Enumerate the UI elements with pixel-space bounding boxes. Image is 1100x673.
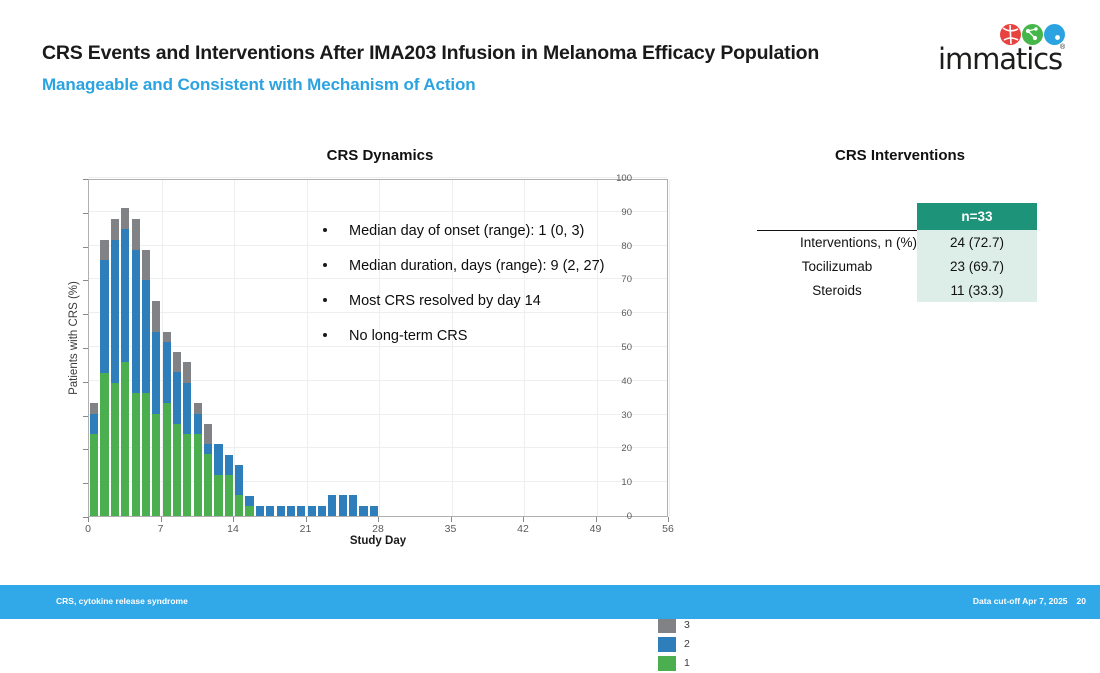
x-tick-mark <box>233 517 234 522</box>
x-tick-mark <box>161 517 162 522</box>
bar-segment-grade-3 <box>142 250 150 281</box>
bar-segment-grade-2 <box>328 495 336 516</box>
logo-wordmark: immatics <box>938 42 1062 76</box>
y-axis-title: Patients with CRS (%) <box>68 188 80 488</box>
bar-segment-grade-1 <box>204 454 212 516</box>
bar-stack <box>359 506 367 516</box>
bar-segment-grade-2 <box>287 506 295 516</box>
y-tick-mark <box>83 247 88 248</box>
interventions-table: n=33 Interventions, n (%)24 (72.7)Tocili… <box>757 203 1037 302</box>
y-tick-label: 30 <box>598 410 632 421</box>
legend-swatch-icon <box>658 637 676 652</box>
bar-stack <box>349 495 357 516</box>
bar-stack <box>308 506 316 516</box>
bar-segment-grade-1 <box>100 373 108 516</box>
bar-stack <box>328 495 336 516</box>
bar-segment-grade-1 <box>111 383 119 516</box>
x-tick-label: 28 <box>363 523 393 535</box>
bar-segment-grade-2 <box>225 455 233 476</box>
bar-segment-grade-2 <box>266 506 274 516</box>
bar-segment-grade-1 <box>142 393 150 516</box>
x-tick-label: 14 <box>218 523 248 535</box>
x-tick-mark <box>451 517 452 522</box>
x-tick-label: 7 <box>146 523 176 535</box>
bar-segment-grade-2 <box>214 444 222 475</box>
bullet-item: No long-term CRS <box>313 327 663 345</box>
bar-segment-grade-3 <box>194 403 202 413</box>
bar-stack <box>111 219 119 516</box>
bar-stack <box>266 506 274 516</box>
bar-stack <box>121 208 129 516</box>
bar-segment-grade-1 <box>214 475 222 516</box>
slide-footer: CRS, cytokine release syndrome Data cut-… <box>0 585 1100 619</box>
table-row: Steroids11 (33.3) <box>757 278 1037 302</box>
table-row-label: Tocilizumab <box>757 254 917 278</box>
bar-segment-grade-3 <box>183 362 191 383</box>
gridline-horizontal <box>89 211 667 212</box>
table-header-blank <box>757 203 917 230</box>
bar-segment-grade-1 <box>173 424 181 516</box>
bar-stack <box>194 403 202 516</box>
y-tick-mark <box>83 280 88 281</box>
bar-segment-grade-3 <box>173 352 181 373</box>
chart-panel-title: CRS Dynamics <box>290 147 470 164</box>
bar-stack <box>256 506 264 516</box>
bar-segment-grade-2 <box>90 414 98 435</box>
bar-segment-grade-1 <box>183 434 191 516</box>
bullet-item: Most CRS resolved by day 14 <box>313 292 663 310</box>
bar-segment-grade-2 <box>132 250 140 393</box>
slide-header: CRS Events and Interventions After IMA20… <box>0 0 1100 110</box>
x-tick-label: 35 <box>436 523 466 535</box>
table-row-value: 24 (72.7) <box>917 230 1037 254</box>
table-panel-title: CRS Interventions <box>790 147 1010 164</box>
y-tick-mark <box>83 179 88 180</box>
bar-stack <box>132 219 140 516</box>
y-tick-label: 100 <box>598 173 632 184</box>
gridline-vertical <box>669 180 670 516</box>
legend-label: 2 <box>684 638 690 650</box>
bar-stack <box>100 240 108 516</box>
x-tick-mark <box>668 517 669 522</box>
data-cutoff-text: Data cut-off Apr 7, 2025 <box>973 596 1068 606</box>
bar-segment-grade-3 <box>111 219 119 240</box>
y-tick-label: 10 <box>598 477 632 488</box>
table-header-n: n=33 <box>917 203 1037 230</box>
bar-segment-grade-2 <box>100 260 108 373</box>
legend-rows: 321 <box>658 616 714 672</box>
bar-segment-grade-2 <box>183 383 191 434</box>
bar-segment-grade-2 <box>318 506 326 516</box>
bar-stack <box>173 352 181 516</box>
y-tick-label: 0 <box>598 511 632 522</box>
footer-abbreviation-note: CRS, cytokine release syndrome <box>56 596 188 606</box>
x-tick-mark <box>88 517 89 522</box>
bar-segment-grade-2 <box>173 372 181 423</box>
bar-stack <box>277 506 285 516</box>
immatics-logo: immatics ® <box>938 24 1068 72</box>
bar-segment-grade-2 <box>349 495 357 516</box>
bar-segment-grade-2 <box>359 506 367 516</box>
table-body: Interventions, n (%)24 (72.7)Tocilizumab… <box>757 230 1037 302</box>
bullet-text: Median duration, days (range): 9 (2, 27) <box>349 258 605 274</box>
y-tick-mark <box>83 449 88 450</box>
x-tick-mark <box>596 517 597 522</box>
bar-segment-grade-2 <box>194 414 202 435</box>
bar-stack <box>142 250 150 516</box>
bar-segment-grade-1 <box>235 495 243 516</box>
page-number: 20 <box>1077 596 1086 606</box>
y-tick-mark <box>83 416 88 417</box>
y-tick-mark <box>83 348 88 349</box>
bar-stack <box>90 403 98 516</box>
bar-segment-grade-3 <box>90 403 98 413</box>
y-tick-label: 90 <box>598 207 632 218</box>
y-tick-mark <box>83 382 88 383</box>
x-tick-mark <box>378 517 379 522</box>
bar-segment-grade-3 <box>163 332 171 342</box>
bullet-dot-icon <box>323 333 327 337</box>
bar-segment-grade-3 <box>204 424 212 445</box>
bar-segment-grade-2 <box>297 506 305 516</box>
legend-swatch-icon <box>658 656 676 671</box>
y-tick-mark <box>83 483 88 484</box>
x-tick-mark <box>306 517 307 522</box>
bullet-text: No long-term CRS <box>349 328 467 344</box>
bar-segment-grade-3 <box>100 240 108 261</box>
bar-stack <box>245 496 253 516</box>
bar-segment-grade-1 <box>225 475 233 516</box>
bar-segment-grade-2 <box>204 444 212 454</box>
bar-stack <box>152 301 160 516</box>
page-subtitle: Manageable and Consistent with Mechanism… <box>42 75 476 95</box>
x-axis-title: Study Day <box>88 535 668 547</box>
page-title: CRS Events and Interventions After IMA20… <box>42 42 819 65</box>
chart-callout-bullets: Median day of onset (range): 1 (0, 3)Med… <box>313 222 663 362</box>
bar-segment-grade-2 <box>256 506 264 516</box>
legend-item-grade-2[interactable]: 2 <box>658 635 714 653</box>
x-tick-label: 49 <box>581 523 611 535</box>
legend-item-grade-1[interactable]: 1 <box>658 654 714 672</box>
y-tick-mark <box>83 314 88 315</box>
bar-segment-grade-1 <box>132 393 140 516</box>
bar-segment-grade-2 <box>277 506 285 516</box>
crs-interventions-table: n=33 Interventions, n (%)24 (72.7)Tocili… <box>757 203 1037 302</box>
legend-label: 3 <box>684 619 690 631</box>
bar-segment-grade-2 <box>111 240 119 383</box>
bar-stack <box>370 506 378 516</box>
bar-segment-grade-2 <box>308 506 316 516</box>
bar-segment-grade-1 <box>152 414 160 516</box>
bar-segment-grade-2 <box>339 495 347 516</box>
gridline-horizontal <box>89 177 667 178</box>
bar-stack <box>318 506 326 516</box>
gridline-vertical <box>307 180 308 516</box>
bar-segment-grade-2 <box>235 465 243 496</box>
bar-segment-grade-2 <box>245 496 253 506</box>
legend-label: 1 <box>684 657 690 669</box>
bar-segment-grade-2 <box>121 229 129 362</box>
table-row-value: 11 (33.3) <box>917 278 1037 302</box>
bullet-item: Median day of onset (range): 1 (0, 3) <box>313 222 663 240</box>
bar-stack <box>204 424 212 516</box>
bar-segment-grade-3 <box>152 301 160 332</box>
bar-stack <box>163 332 171 516</box>
x-tick-label: 42 <box>508 523 538 535</box>
bar-segment-grade-2 <box>142 280 150 393</box>
logo-registered-mark: ® <box>1060 44 1065 51</box>
bullet-item: Median duration, days (range): 9 (2, 27) <box>313 257 663 275</box>
table-header-row: n=33 <box>757 203 1037 230</box>
bar-segment-grade-1 <box>121 362 129 516</box>
bar-stack <box>339 495 347 516</box>
bar-segment-grade-3 <box>121 208 129 229</box>
table-row-label: Interventions, n (%) <box>757 230 917 254</box>
bar-segment-grade-3 <box>132 219 140 250</box>
bullet-dot-icon <box>323 263 327 267</box>
bar-stack <box>287 506 295 516</box>
footer-right: Data cut-off Apr 7, 202520 <box>973 596 1086 606</box>
bar-segment-grade-2 <box>370 506 378 516</box>
bar-stack <box>297 506 305 516</box>
table-row-label: Steroids <box>757 278 917 302</box>
bullet-text: Median day of onset (range): 1 (0, 3) <box>349 223 584 239</box>
bar-segment-grade-2 <box>163 342 171 404</box>
x-tick-label: 56 <box>653 523 683 535</box>
x-tick-label: 21 <box>291 523 321 535</box>
bar-stack <box>214 444 222 516</box>
bar-segment-grade-1 <box>163 403 171 516</box>
bar-segment-grade-1 <box>194 434 202 516</box>
bullet-dot-icon <box>323 298 327 302</box>
bar-stack <box>183 362 191 516</box>
bar-segment-grade-2 <box>152 332 160 414</box>
bar-segment-grade-1 <box>245 506 253 516</box>
bar-stack <box>225 454 233 516</box>
table-row: Tocilizumab23 (69.7) <box>757 254 1037 278</box>
bar-segment-grade-1 <box>90 434 98 516</box>
y-tick-mark <box>83 213 88 214</box>
legend-swatch-icon <box>658 618 676 633</box>
bar-stack <box>235 465 243 516</box>
y-tick-label: 20 <box>598 443 632 454</box>
table-row: Interventions, n (%)24 (72.7) <box>757 230 1037 254</box>
table-row-value: 23 (69.7) <box>917 254 1037 278</box>
x-tick-mark <box>523 517 524 522</box>
y-tick-label: 40 <box>598 376 632 387</box>
bullet-dot-icon <box>323 228 327 232</box>
bullet-text: Most CRS resolved by day 14 <box>349 293 541 309</box>
x-tick-label: 0 <box>73 523 103 535</box>
